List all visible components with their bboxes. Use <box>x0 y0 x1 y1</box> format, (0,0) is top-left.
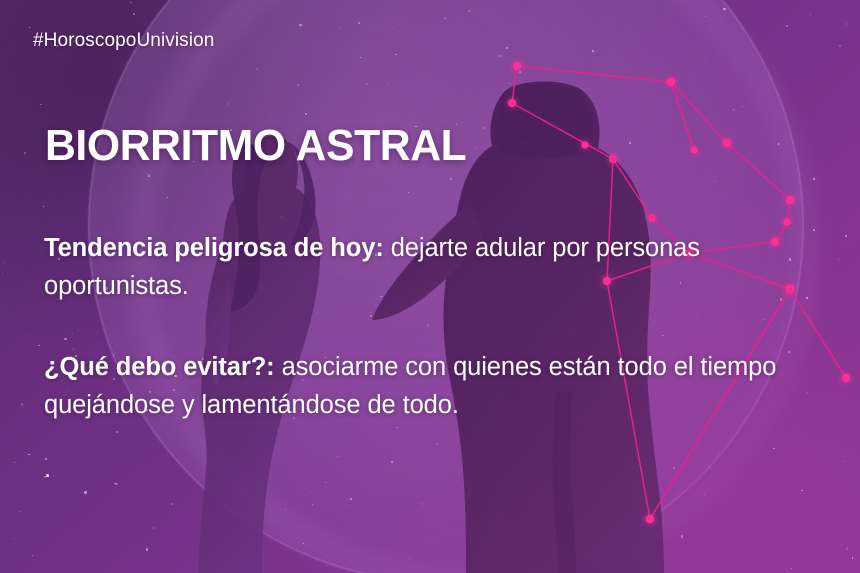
text-content: #HoroscopoUnivision BIORRITMO ASTRAL Ten… <box>0 0 860 573</box>
horoscope-card: #HoroscopoUnivision BIORRITMO ASTRAL Ten… <box>0 0 860 573</box>
paragraph-evitar: ¿Qué debo evitar?: asociarme con quienes… <box>44 348 834 424</box>
paragraph-evitar-lead: ¿Qué debo evitar?: <box>44 353 275 381</box>
paragraph-tendencia: Tendencia peligrosa de hoy: dejarte adul… <box>44 229 834 305</box>
page-title: BIORRITMO ASTRAL <box>45 121 466 171</box>
hashtag-label: #HoroscopoUnivision <box>33 30 214 52</box>
trailing-period-mark: . <box>44 455 51 483</box>
paragraph-tendencia-lead: Tendencia peligrosa de hoy: <box>44 234 384 262</box>
